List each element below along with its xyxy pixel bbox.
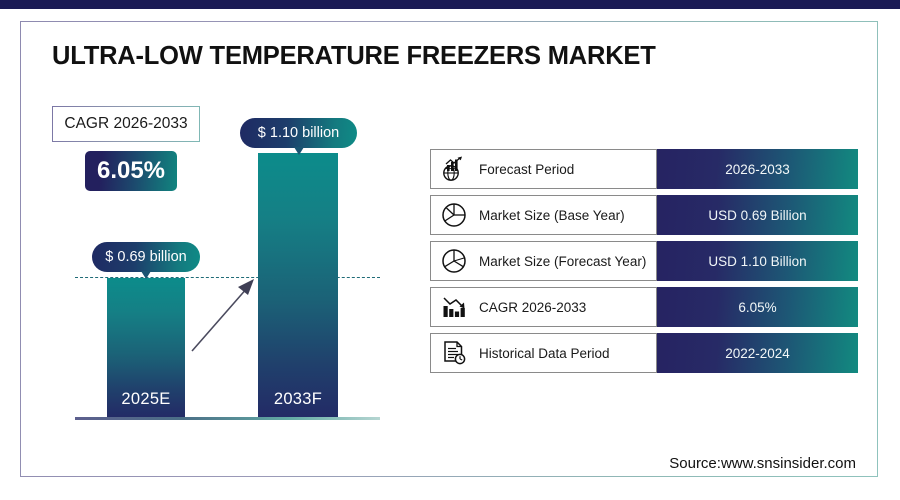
chart-baseline [75, 417, 380, 420]
bar-label-2033f: 2033F [258, 390, 338, 409]
table-row: Market Size (Forecast Year) USD 1.10 Bil… [430, 241, 858, 281]
table-row: CAGR 2026-2033 6.05% [430, 287, 858, 327]
table-row: Historical Data Period 2022-2024 [430, 333, 858, 373]
info-row-left: Historical Data Period [430, 333, 657, 373]
pie-chart-icon [439, 200, 469, 230]
info-row-left: Forecast Period [430, 149, 657, 189]
info-row-value: 2022-2024 [657, 333, 858, 373]
value-pill-2033f: $ 1.10 billion [240, 118, 357, 148]
info-row-label: Forecast Period [479, 162, 574, 177]
pie-chart-split-icon [439, 246, 469, 276]
info-row-value: 2026-2033 [657, 149, 858, 189]
info-row-value: 6.05% [657, 287, 858, 327]
top-accent-bar [0, 0, 900, 9]
bar-chart-line-icon [439, 292, 469, 322]
table-row: Forecast Period 2026-2033 [430, 149, 858, 189]
info-row-left: Market Size (Forecast Year) [430, 241, 657, 281]
table-row: Market Size (Base Year) USD 0.69 Billion [430, 195, 858, 235]
value-pill-2033f-label: $ 1.10 billion [258, 125, 339, 141]
value-pill-2025e: $ 0.69 billion [92, 242, 200, 272]
page-title: ULTRA-LOW TEMPERATURE FREEZERS MARKET [52, 42, 656, 71]
value-pill-2025e-label: $ 0.69 billion [105, 249, 186, 265]
globe-growth-icon [439, 154, 469, 184]
info-row-label: Market Size (Base Year) [479, 208, 625, 223]
bar-2025e: 2025E [107, 278, 185, 418]
document-clock-icon [439, 338, 469, 368]
info-row-label: CAGR 2026-2033 [479, 300, 586, 315]
bar-2033f: 2033F [258, 153, 338, 418]
info-row-value: USD 1.10 Billion [657, 241, 858, 281]
info-row-left: CAGR 2026-2033 [430, 287, 657, 327]
info-row-left: Market Size (Base Year) [430, 195, 657, 235]
source-attribution: Source:www.snsinsider.com [669, 455, 856, 472]
bar-chart: 2025E 2033F $ 0.69 billion $ 1.10 billio… [60, 110, 400, 430]
info-row-label: Historical Data Period [479, 346, 610, 361]
info-row-label: Market Size (Forecast Year) [479, 254, 646, 269]
info-table: Forecast Period 2026-2033 Market Size (B… [430, 149, 858, 379]
growth-arrow-icon [188, 275, 260, 355]
info-row-value: USD 0.69 Billion [657, 195, 858, 235]
bar-label-2025e: 2025E [107, 390, 185, 409]
